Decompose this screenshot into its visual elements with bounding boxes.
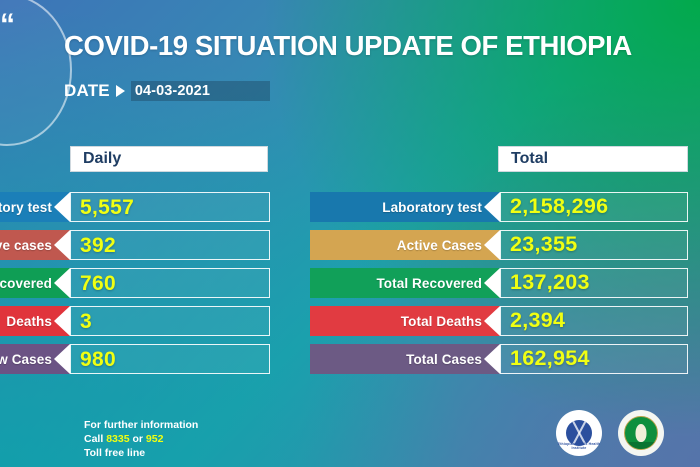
- call-word: Call: [84, 433, 103, 445]
- stat-row: Laboratory test5,557: [0, 192, 270, 222]
- stat-row: Total Deaths2,394: [310, 306, 688, 336]
- stat-label: Laboratory test: [0, 200, 52, 215]
- date-value: 04-03-2021: [135, 83, 210, 99]
- stat-label-tag: Total Recovered: [310, 268, 500, 298]
- stat-label: Laboratory test: [382, 200, 482, 215]
- contact-line-1: For further information: [84, 418, 198, 432]
- or-word: or: [132, 433, 143, 445]
- stat-label-tag: Laboratory test: [0, 192, 70, 222]
- stat-row: Active cases392: [0, 230, 270, 260]
- total-column-heading: Total: [498, 146, 688, 172]
- stat-value-box: 23,355: [500, 230, 688, 260]
- organization-logos: Ethiopian Public Health Institute: [556, 410, 664, 456]
- stat-label-tag: Active cases: [0, 230, 70, 260]
- stat-label: Total Deaths: [401, 314, 482, 329]
- hotline-number-2: 952: [146, 433, 164, 445]
- stat-value: 980: [80, 349, 116, 370]
- stat-value: 23,355: [510, 234, 578, 256]
- stat-value: 3: [80, 311, 92, 332]
- ephi-globe-logo: Ethiopian Public Health Institute: [556, 410, 602, 456]
- triangle-right-icon: [116, 85, 125, 97]
- stat-value: 5,557: [80, 197, 134, 218]
- stat-value: 392: [80, 235, 116, 256]
- stat-row: Active Cases23,355: [310, 230, 688, 260]
- quote-glyph-icon: “: [0, 10, 12, 40]
- crest-icon: [624, 416, 658, 450]
- stat-label: Recovered: [0, 276, 52, 291]
- contact-line-2: Call 8335 or 952: [84, 432, 198, 446]
- stat-value: 162,954: [510, 348, 590, 370]
- page-title: COVID-19 SITUATION UPDATE OF ETHIOPIA: [64, 30, 632, 62]
- stat-value-box: 3: [70, 306, 270, 336]
- stat-value-box: 2,394: [500, 306, 688, 336]
- stat-label-tag: Total Cases: [310, 344, 500, 374]
- contact-info: For further information Call 8335 or 952…: [84, 418, 198, 460]
- stat-label-tag: Active Cases: [310, 230, 500, 260]
- daily-column-heading: Daily: [70, 146, 268, 172]
- date-value-band: 04-03-2021: [131, 81, 270, 101]
- stat-label: Deaths: [6, 314, 52, 329]
- stat-row: Deaths3: [0, 306, 270, 336]
- daily-column-heading-label: Daily: [83, 150, 121, 168]
- stat-label: Total Cases: [406, 352, 482, 367]
- stat-value: 2,394: [510, 310, 565, 332]
- total-column-heading-label: Total: [511, 150, 548, 168]
- stat-value: 137,203: [510, 272, 590, 294]
- stat-value-box: 760: [70, 268, 270, 298]
- stat-label-tag: Laboratory test: [310, 192, 500, 222]
- contact-line-3: Toll free line: [84, 446, 198, 460]
- stat-value: 2,158,296: [510, 196, 608, 218]
- stat-label: Total Recovered: [376, 276, 482, 291]
- date-label: DATE: [64, 81, 110, 101]
- institute-watermark-logo: “ E ce: [0, 0, 72, 146]
- ephi-logo-caption: Ethiopian Public Health Institute: [556, 442, 602, 450]
- stat-value-box: 2,158,296: [500, 192, 688, 222]
- stat-label-tag: Recovered: [0, 268, 70, 298]
- stat-value-box: 137,203: [500, 268, 688, 298]
- stat-value-box: 392: [70, 230, 270, 260]
- stat-value-box: 5,557: [70, 192, 270, 222]
- date-line: DATE 04-03-2021: [64, 80, 270, 102]
- stat-label: Active cases: [0, 238, 52, 253]
- stat-value-box: 980: [70, 344, 270, 374]
- stat-label: New Cases: [0, 352, 52, 367]
- stat-label: Active Cases: [397, 238, 482, 253]
- ministry-of-health-crest-logo: [618, 410, 664, 456]
- stat-row: Total Recovered137,203: [310, 268, 688, 298]
- stat-row: Total Cases162,954: [310, 344, 688, 374]
- stat-label-tag: New Cases: [0, 344, 70, 374]
- stat-row: Recovered760: [0, 268, 270, 298]
- stat-value: 760: [80, 273, 116, 294]
- hotline-number-1: 8335: [106, 433, 129, 445]
- stat-label-tag: Deaths: [0, 306, 70, 336]
- stat-row: New Cases980: [0, 344, 270, 374]
- stat-label-tag: Total Deaths: [310, 306, 500, 336]
- covid-situation-update-poster: “ E ce COVID-19 SITUATION UPDATE OF ETHI…: [0, 0, 700, 467]
- stat-row: Laboratory test2,158,296: [310, 192, 688, 222]
- stat-value-box: 162,954: [500, 344, 688, 374]
